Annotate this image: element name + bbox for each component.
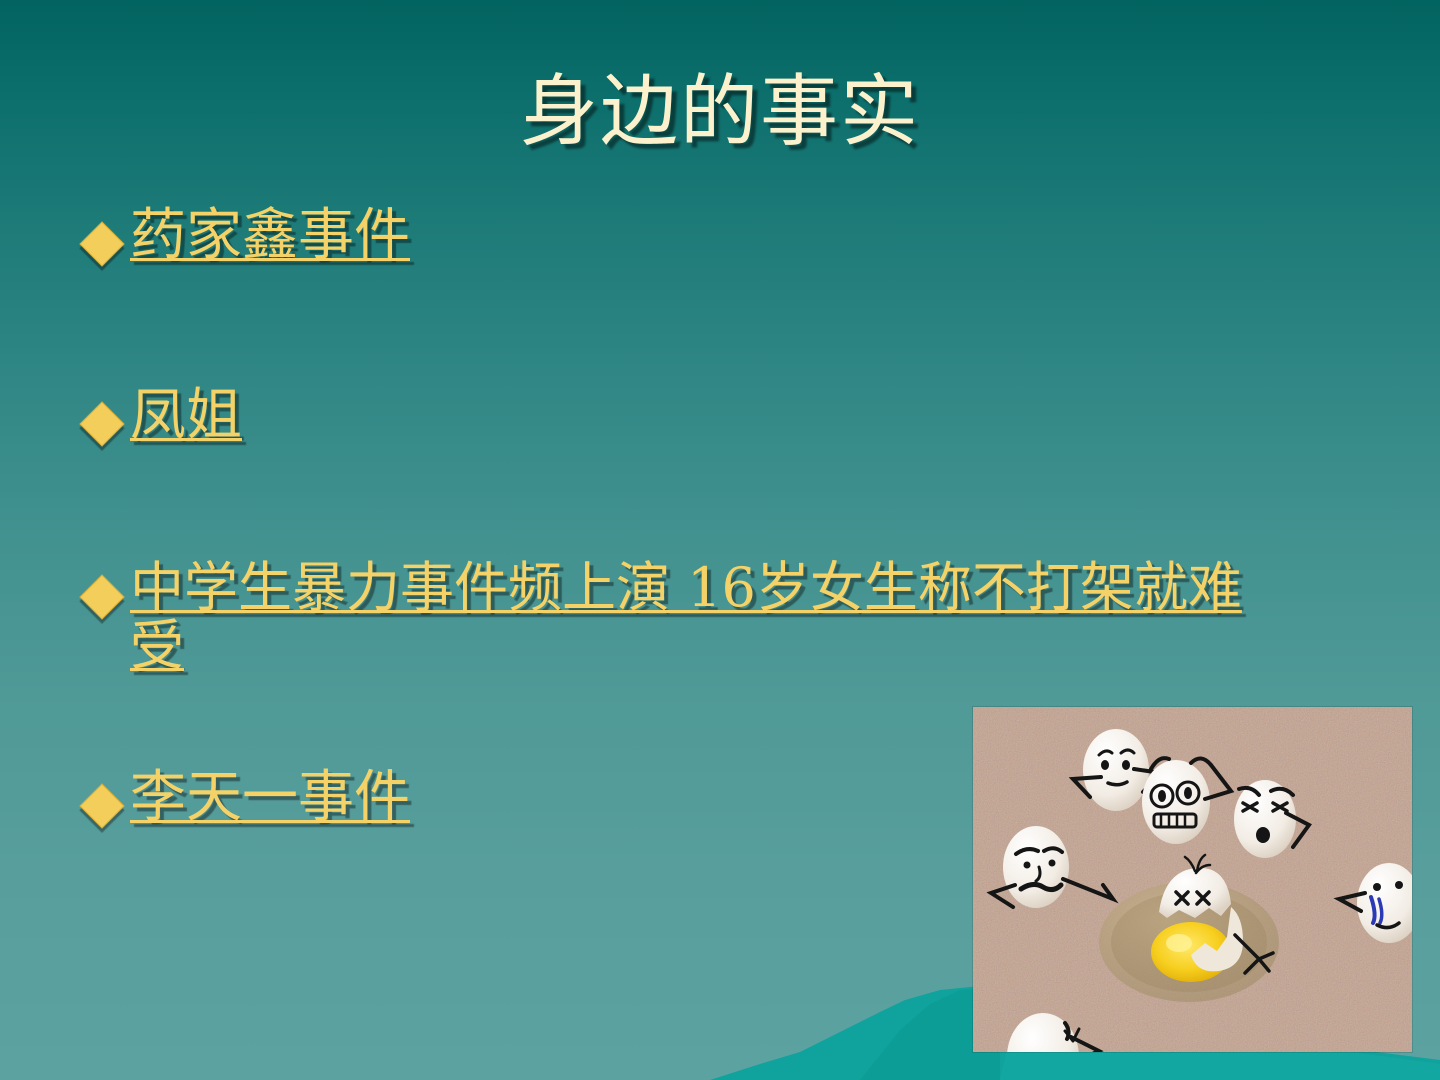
bullet-gap — [86, 266, 1286, 386]
list-item-label[interactable]: 中学生暴力事件频上演 16岁女生称不打架就难受 — [130, 559, 1286, 676]
slide-title: 身边的事实 — [0, 72, 1440, 154]
diamond-bullet-icon — [79, 783, 124, 828]
list-item[interactable]: 药家鑫事件 — [86, 206, 1286, 266]
list-item-label[interactable]: 凤姐 — [130, 386, 1286, 446]
eggs-with-faces-photo — [973, 707, 1412, 1052]
list-item[interactable]: 凤姐 — [86, 386, 1286, 446]
diamond-bullet-icon — [79, 221, 124, 266]
diamond-bullet-icon — [79, 574, 124, 619]
list-item[interactable]: 中学生暴力事件频上演 16岁女生称不打架就难受 — [86, 559, 1286, 676]
presentation-slide: 身边的事实 药家鑫事件 凤姐 中学生暴力事件频上演 16岁女生称不打架就难受 李… — [0, 0, 1440, 1080]
list-item-label[interactable]: 药家鑫事件 — [130, 206, 1286, 266]
eggs-photo-graphic — [973, 707, 1412, 1052]
bullet-gap — [86, 447, 1286, 559]
diamond-bullet-icon — [79, 402, 124, 447]
